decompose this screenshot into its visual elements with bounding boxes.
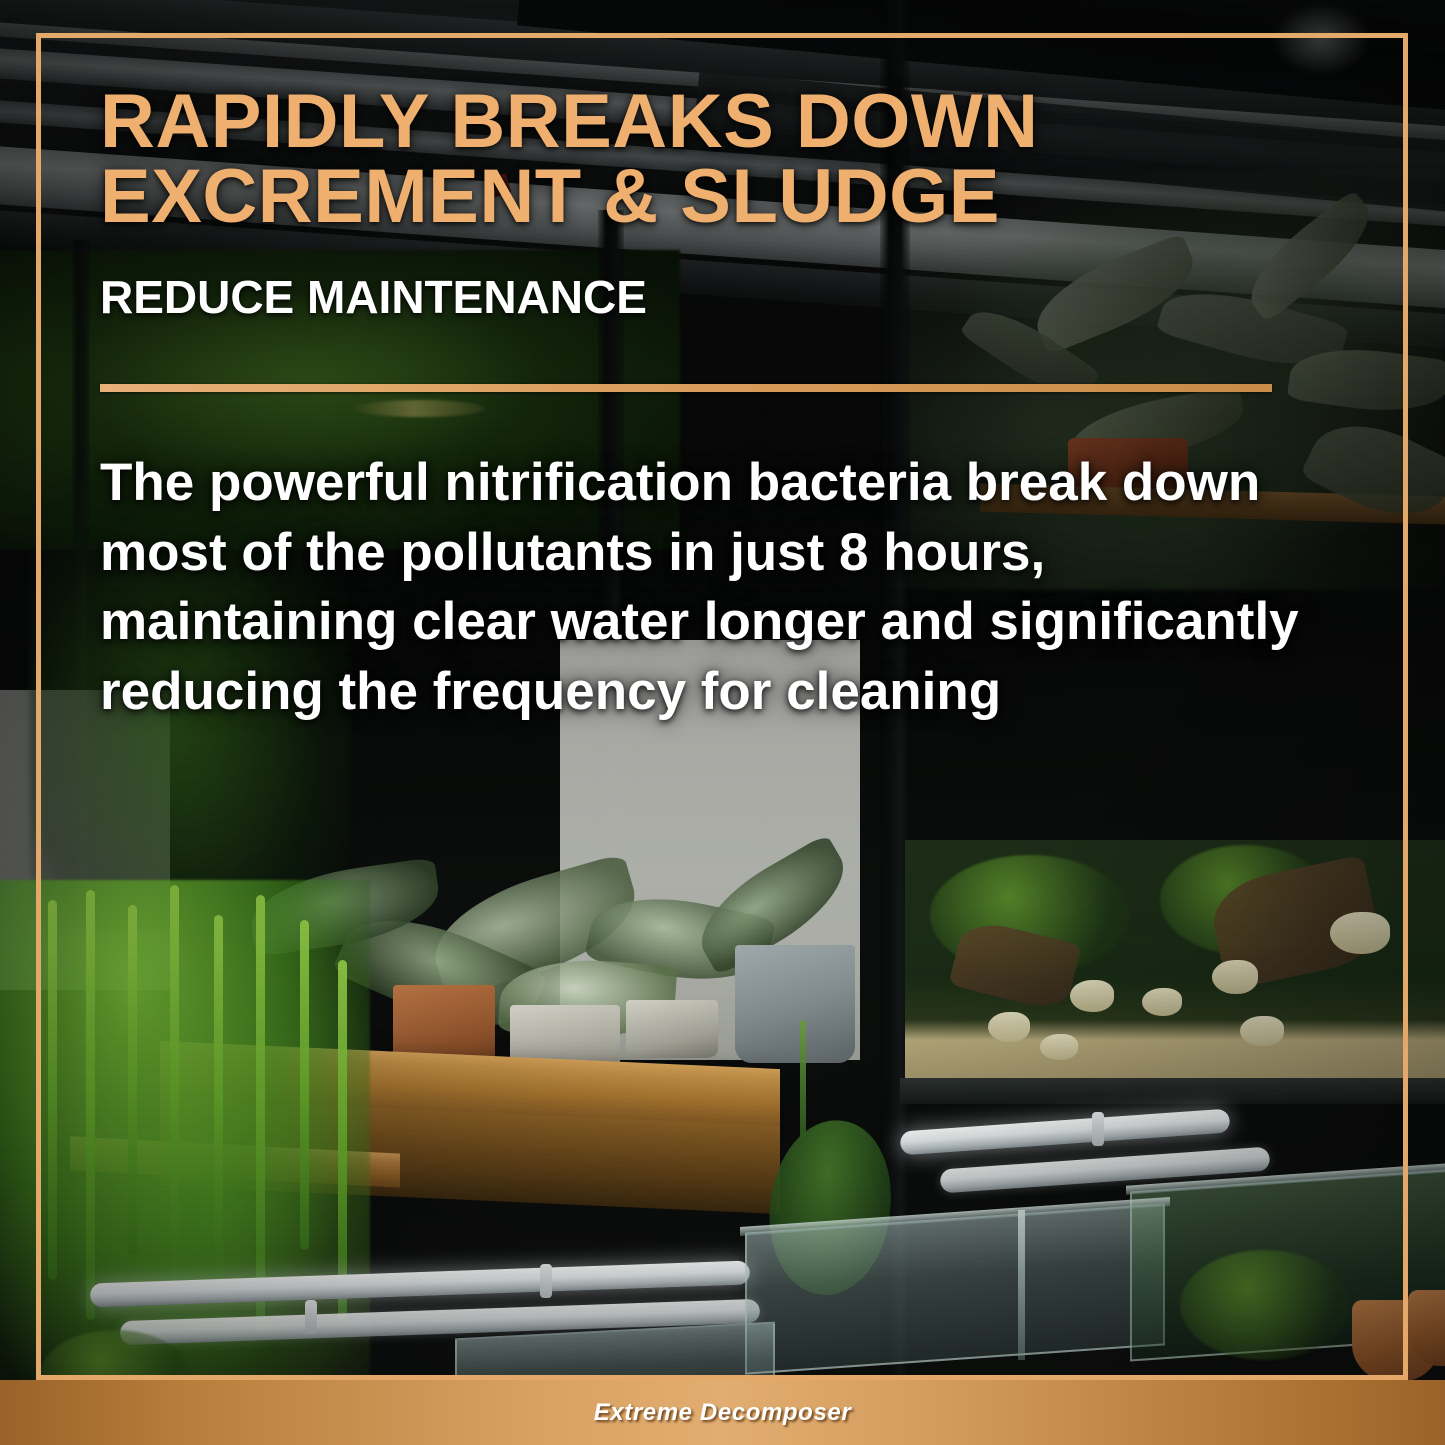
body-copy: The powerful nitrification bacteria brea… bbox=[100, 448, 1310, 726]
footer-bar: Extreme Decomposer bbox=[0, 1380, 1445, 1445]
banner-content: RAPIDLY BREAKS DOWN EXCREMENT & SLUDGE R… bbox=[100, 84, 1325, 726]
gold-divider-rule bbox=[100, 384, 1272, 392]
subheadline: REDUCE MAINTENANCE bbox=[100, 270, 1325, 324]
headline: RAPIDLY BREAKS DOWN EXCREMENT & SLUDGE bbox=[100, 84, 1250, 234]
product-feature-banner: RAPIDLY BREAKS DOWN EXCREMENT & SLUDGE R… bbox=[0, 0, 1445, 1445]
headline-line-1: RAPIDLY BREAKS DOWN bbox=[100, 79, 1039, 164]
footer-product-label: Extreme Decomposer bbox=[594, 1399, 852, 1427]
headline-line-2: EXCREMENT & SLUDGE bbox=[100, 159, 1250, 234]
